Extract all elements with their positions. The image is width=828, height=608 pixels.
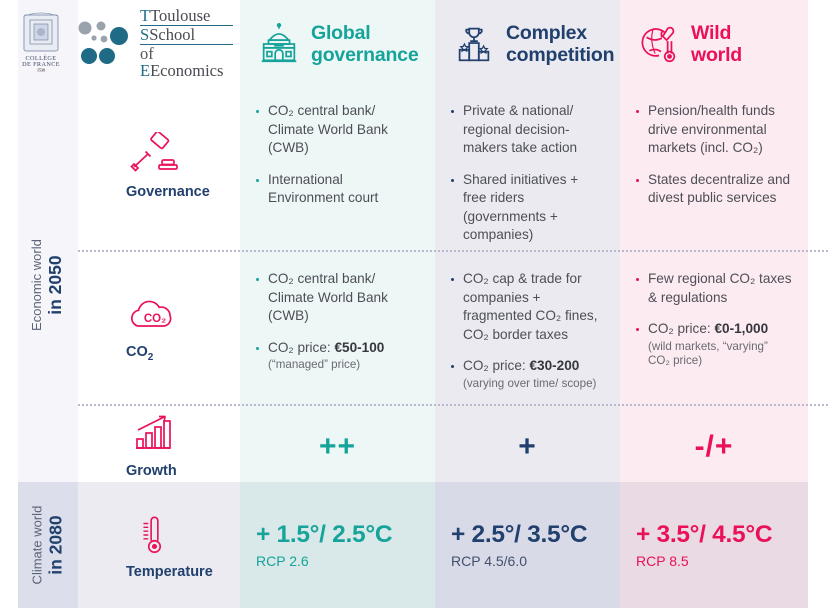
temperature-rcp: RCP 8.5 xyxy=(636,553,808,569)
section-label-line1: Climate world xyxy=(29,506,45,585)
section-label-line2: in 2050 xyxy=(45,239,67,331)
row-header-co2: CO₂ CO2 xyxy=(78,250,240,404)
row-header-temperature: Temperature xyxy=(78,496,240,596)
logo-group: COLLÈGE DE FRANCE 1530 TToulouse SSchool… xyxy=(18,8,233,78)
column-header-wild-world: Wild world xyxy=(620,8,808,80)
cell-temperature-global-governance: + 1.5°/ 2.5°C RCP 2.6 xyxy=(240,482,435,608)
growth-bars-icon xyxy=(126,411,182,457)
column-title-global-governance: Global governance xyxy=(311,22,418,66)
cell-co2-complex-competition: CO₂ cap & trade for companies + fragment… xyxy=(435,256,620,401)
list-item-price: CO₂ price: €0-1,000 (wild markets, “vary… xyxy=(634,320,792,369)
column-title-line1: Wild xyxy=(691,22,731,44)
column-title-wild-world: Wild world xyxy=(691,22,742,66)
bullet-list: CO₂ central bank/ Climate World Bank (CW… xyxy=(254,270,419,373)
cell-governance-global-governance: CO₂ central bank/ Climate World Bank (CW… xyxy=(240,88,435,218)
column-header-global-governance: Global governance xyxy=(240,8,435,80)
growth-value-complex-competition: + xyxy=(435,416,620,478)
row-header-growth: Growth xyxy=(78,408,240,482)
co2-cloud-icon: CO₂ xyxy=(126,292,186,338)
tse-line2: School xyxy=(149,25,195,44)
column-title-line1: Complex xyxy=(506,22,587,44)
co2-price-value: €30-200 xyxy=(529,358,579,373)
co2-price-note: (varying over time/ scope) xyxy=(463,377,604,392)
bullet-list: Pension/health funds drive environmental… xyxy=(634,102,792,208)
cell-governance-wild-world: Pension/health funds drive environmental… xyxy=(620,88,808,218)
column-title-complex-competition: Complex competition xyxy=(506,22,614,66)
temperature-value: + 3.5°/ 4.5°C xyxy=(636,521,808,549)
college-year: 1530 xyxy=(37,68,45,73)
cell-co2-wild-world: Few regional CO₂ taxes & regulations CO₂… xyxy=(620,256,808,379)
bullet-list: Private & national/ regional decision-ma… xyxy=(449,102,604,245)
list-item: States decentralize and divest public se… xyxy=(634,171,792,208)
list-item-price: CO₂ price: €30-200 (varying over time/ s… xyxy=(449,357,604,391)
list-item: CO₂ central bank/ Climate World Bank (CW… xyxy=(254,102,419,158)
temperature-rcp: RCP 4.5/6.0 xyxy=(451,553,620,569)
column-header-complex-competition: Complex competition xyxy=(435,8,620,80)
temperature-rcp: RCP 2.6 xyxy=(256,553,435,569)
podium-trophy-icon xyxy=(451,21,497,67)
column-title-line2: governance xyxy=(311,44,418,66)
cell-temperature-wild-world: + 3.5°/ 4.5°C RCP 8.5 xyxy=(620,482,808,608)
section-label-economic-world-2050: Economic world in 2050 xyxy=(18,88,78,482)
co2-price-label: CO₂ price: xyxy=(648,321,714,336)
bank-building-icon xyxy=(256,21,302,67)
co2-price-note: (“managed” price) xyxy=(268,358,419,373)
row-label-governance: Governance xyxy=(126,184,240,200)
list-item: Shared initiatives + free riders (govern… xyxy=(449,171,604,245)
globe-thermometer-icon xyxy=(636,21,682,67)
cell-co2-global-governance: CO₂ central bank/ Climate World Bank (CW… xyxy=(240,256,435,383)
column-title-line1: Global xyxy=(311,22,370,44)
college-de-france-logo: COLLÈGE DE FRANCE 1530 xyxy=(18,12,64,74)
list-item: Private & national/ regional decision-ma… xyxy=(449,102,604,158)
list-item: Pension/health funds drive environmental… xyxy=(634,102,792,158)
list-item: CO₂ central bank/ Climate World Bank (CW… xyxy=(254,270,419,326)
growth-value-global-governance: ++ xyxy=(240,416,435,478)
scenario-comparison-infographic: COLLÈGE DE FRANCE 1530 TToulouse SSchool… xyxy=(0,0,828,608)
list-item: CO₂ cap & trade for companies + fragment… xyxy=(449,270,604,344)
co2-price-note: (wild markets, “varying” CO₂ price) xyxy=(648,340,792,369)
bullet-list: Few regional CO₂ taxes & regulations CO₂… xyxy=(634,270,792,369)
row-header-governance: Governance xyxy=(78,88,240,244)
column-title-line2: competition xyxy=(506,44,614,66)
row-label-co2: CO2 xyxy=(126,344,240,363)
svg-text:CO₂: CO₂ xyxy=(144,313,166,325)
tse-line1: Toulouse xyxy=(150,6,210,25)
tse-dots-logo xyxy=(72,16,132,70)
co2-price-value: €50-100 xyxy=(334,340,384,355)
list-item: International Environment court xyxy=(254,171,419,208)
cell-governance-complex-competition: Private & national/ regional decision-ma… xyxy=(435,88,620,255)
bullet-list: CO₂ central bank/ Climate World Bank (CW… xyxy=(254,102,419,208)
growth-value-wild-world: -/+ xyxy=(620,416,808,478)
list-item-price: CO₂ price: €50-100 (“managed” price) xyxy=(254,339,419,373)
gavel-icon xyxy=(126,132,182,178)
temperature-value: + 2.5°/ 3.5°C xyxy=(451,521,620,549)
cell-temperature-complex-competition: + 2.5°/ 3.5°C RCP 4.5/6.0 xyxy=(435,482,620,608)
section-label-climate-world-2080: Climate world in 2080 xyxy=(18,482,78,608)
row-label-growth: Growth xyxy=(126,463,240,479)
tse-wordmark: TToulouse SSchool of EEconomics xyxy=(140,7,233,80)
co2-price-label: CO₂ price: xyxy=(268,340,334,355)
column-title-line2: world xyxy=(691,44,742,66)
list-item: Few regional CO₂ taxes & regulations xyxy=(634,270,792,307)
tse-line3: Economics xyxy=(150,61,223,80)
row-label-temperature: Temperature xyxy=(126,564,240,580)
temperature-value: + 1.5°/ 2.5°C xyxy=(256,521,435,549)
co2-price-label: CO₂ price: xyxy=(463,358,529,373)
thermometer-icon xyxy=(126,512,182,558)
section-label-line1: Economic world xyxy=(29,239,45,331)
section-label-line2: in 2080 xyxy=(45,506,67,585)
tse-of: of xyxy=(140,44,154,63)
co2-price-value: €0-1,000 xyxy=(714,321,768,336)
bullet-list: CO₂ cap & trade for companies + fragment… xyxy=(449,270,604,391)
row-separator-governance-co2 xyxy=(78,250,828,252)
row-separator-co2-growth xyxy=(78,404,828,406)
